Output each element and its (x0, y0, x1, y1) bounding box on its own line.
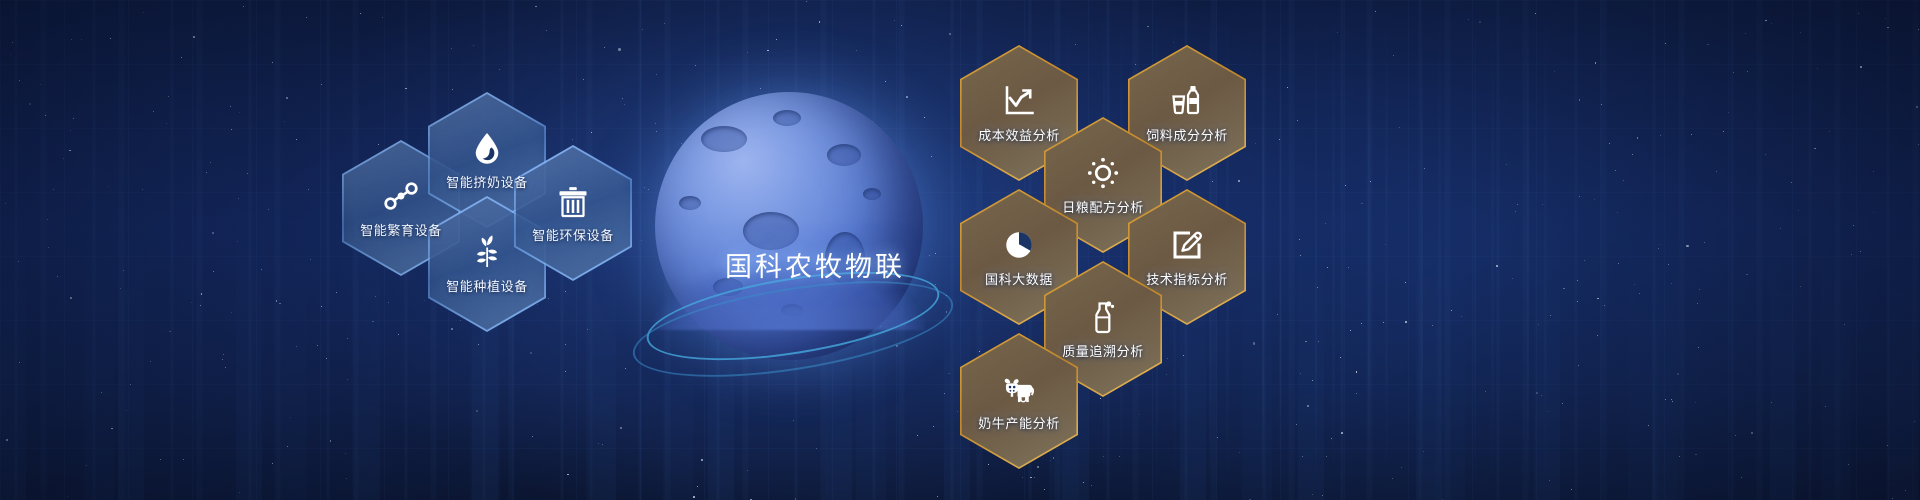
cow-icon (1001, 371, 1037, 407)
milk-bottle-icon (1085, 299, 1121, 335)
hex-label: 日粮配方分析 (1062, 197, 1144, 216)
hex-label: 质量追溯分析 (1062, 341, 1144, 360)
hex-label: 奶牛产能分析 (978, 413, 1060, 432)
water-drop-icon (469, 130, 505, 166)
node-graph-icon (383, 178, 419, 214)
hex-label: 智能种植设备 (446, 276, 528, 295)
pie-chart-icon (1001, 227, 1037, 263)
hex-label: 国科大数据 (985, 269, 1053, 288)
page-title: 国科农牧物联 (650, 114, 980, 414)
hex-label: 智能挤奶设备 (446, 172, 528, 191)
hex-label: 饲料成分分析 (1146, 125, 1228, 144)
trash-bin-icon (555, 183, 591, 219)
hex-dairy-cow-capacity-analysis[interactable]: 奶牛产能分析 (960, 333, 1078, 469)
planet-group: 国科农牧物联 (633, 92, 963, 392)
sun-icon (1085, 155, 1121, 191)
hex-label: 成本效益分析 (978, 125, 1060, 144)
hex-label: 智能环保设备 (532, 225, 614, 244)
line-chart-icon (1001, 83, 1037, 119)
milk-bottle-cup-icon (1169, 83, 1205, 119)
hex-label: 技术指标分析 (1146, 269, 1228, 288)
hex-smart-environmental-equipment[interactable]: 智能环保设备 (514, 145, 632, 281)
banner-stage: 国科农牧物联 智能繁育设备 智能挤奶设备 智能种植设备 智能环保设备 (0, 0, 1920, 500)
hex-label: 智能繁育设备 (360, 220, 442, 239)
edit-pencil-icon (1169, 227, 1205, 263)
plant-sprout-icon (469, 234, 505, 270)
